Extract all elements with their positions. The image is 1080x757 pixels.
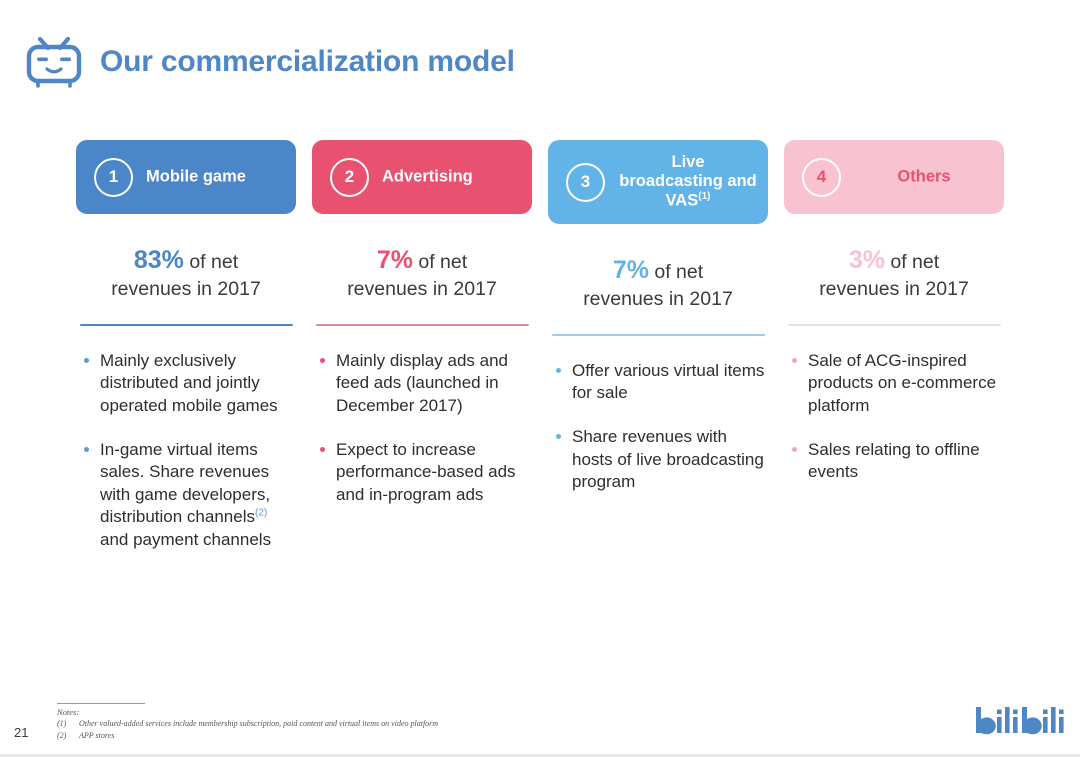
footnote-index: (2) (57, 730, 70, 742)
column-mobile-game: 1 Mobile game 83% of net revenues in 201… (72, 140, 300, 573)
footnote-1: (1) Other valued-added services include … (57, 718, 438, 730)
percent-suffix-2: of net (413, 251, 467, 273)
category-label-sup-3: (1) (698, 191, 710, 202)
bullet-list-2: Mainly display ads and feed ads (launche… (308, 350, 536, 528)
columns-container: 1 Mobile game 83% of net revenues in 201… (72, 140, 1008, 573)
footnote-text: Other valued-added services include memb… (79, 718, 438, 730)
column-divider-3 (552, 334, 765, 336)
bullet-text: Share revenues with hosts of live broadc… (572, 427, 764, 491)
category-number-2: 2 (330, 158, 369, 197)
percent-value-4: 3% (849, 246, 885, 274)
bullet-text: Mainly display ads and feed ads (launche… (336, 351, 508, 415)
bullet-list-3: Offer various virtual items for sale Sha… (544, 360, 772, 515)
percent-block-2: 7% of net revenues in 2017 (308, 244, 536, 303)
category-card-4[interactable]: 4 Others (784, 140, 1004, 214)
category-card-2[interactable]: 2 Advertising (312, 140, 532, 214)
category-label-1: Mobile game (146, 167, 246, 187)
list-item: Share revenues with hosts of live broadc… (550, 426, 772, 494)
bullet-text: In-game virtual items sales. Share reven… (100, 440, 270, 527)
percent-line2-2: revenues in 2017 (347, 278, 497, 300)
category-label-3: Live broadcasting and VAS(1) (618, 153, 758, 211)
list-item: Sales relating to offline events (786, 439, 1008, 484)
bullet-text: Sale of ACG-inspired products on e-comme… (808, 351, 996, 415)
category-card-3[interactable]: 3 Live broadcasting and VAS(1) (548, 140, 768, 224)
column-advertising: 2 Advertising 7% of net revenues in 2017… (308, 140, 536, 573)
bullet-text-tail: and payment channels (100, 530, 271, 549)
category-label-2: Advertising (382, 167, 473, 187)
footnotes-title: Notes: (57, 707, 438, 717)
column-others: 4 Others 3% of net revenues in 2017 Sale… (780, 140, 1008, 573)
column-divider-1 (80, 324, 293, 326)
percent-line2-1: revenues in 2017 (111, 278, 261, 300)
percent-line2-4: revenues in 2017 (819, 278, 969, 300)
bullet-text: Offer various virtual items for sale (572, 361, 764, 403)
column-divider-4 (788, 324, 1001, 326)
percent-suffix-1: of net (184, 251, 238, 273)
category-number-1: 1 (94, 158, 133, 197)
category-number-4: 4 (802, 158, 841, 197)
slide-canvas: Our commercialization model 1 Mobile gam… (0, 0, 1080, 757)
footnote-2: (2) APP stores (57, 730, 438, 742)
bullet-text: Expect to increase performance-based ads… (336, 440, 516, 504)
list-item: Expect to increase performance-based ads… (314, 439, 536, 507)
column-divider-2 (316, 324, 529, 326)
bullet-list-1: Mainly exclusively distributed and joint… (72, 350, 300, 573)
footnote-text: APP stores (79, 730, 114, 742)
percent-block-1: 83% of net revenues in 2017 (72, 244, 300, 303)
percent-value-1: 83% (134, 246, 184, 274)
percent-value-2: 7% (377, 246, 413, 274)
list-item: Offer various virtual items for sale (550, 360, 772, 405)
list-item: Mainly exclusively distributed and joint… (78, 350, 300, 418)
footnote-index: (1) (57, 718, 70, 730)
page-title: Our commercialization model (100, 45, 515, 79)
percent-line2-3: revenues in 2017 (583, 288, 733, 310)
category-number-3: 3 (566, 163, 605, 202)
category-card-1[interactable]: 1 Mobile game (76, 140, 296, 214)
percent-block-4: 3% of net revenues in 2017 (780, 244, 1008, 303)
bullet-text: Mainly exclusively distributed and joint… (100, 351, 278, 415)
percent-suffix-4: of net (885, 251, 939, 273)
bullet-footnote-ref: (2) (255, 508, 267, 519)
page-number: 21 (14, 725, 28, 740)
list-item: In-game virtual items sales. Share reven… (78, 439, 300, 552)
slide-footer: 21 Notes: (1) Other valued-added service… (0, 697, 1080, 757)
list-item: Mainly display ads and feed ads (launche… (314, 350, 536, 418)
bullet-list-4: Sale of ACG-inspired products on e-comme… (780, 350, 1008, 505)
slide-header: Our commercialization model (24, 33, 515, 91)
bilibili-tv-mascot-icon (24, 33, 84, 91)
column-live-broadcasting: 3 Live broadcasting and VAS(1) 7% of net… (544, 140, 772, 573)
footnotes-rule (57, 703, 145, 704)
percent-block-3: 7% of net revenues in 2017 (544, 254, 772, 313)
percent-suffix-3: of net (649, 261, 703, 283)
footnotes: Notes: (1) Other valued-added services i… (57, 703, 438, 741)
list-item: Sale of ACG-inspired products on e-comme… (786, 350, 1008, 418)
bullet-text: Sales relating to offline events (808, 440, 980, 482)
percent-value-3: 7% (613, 256, 649, 284)
category-label-4: Others (854, 167, 994, 187)
